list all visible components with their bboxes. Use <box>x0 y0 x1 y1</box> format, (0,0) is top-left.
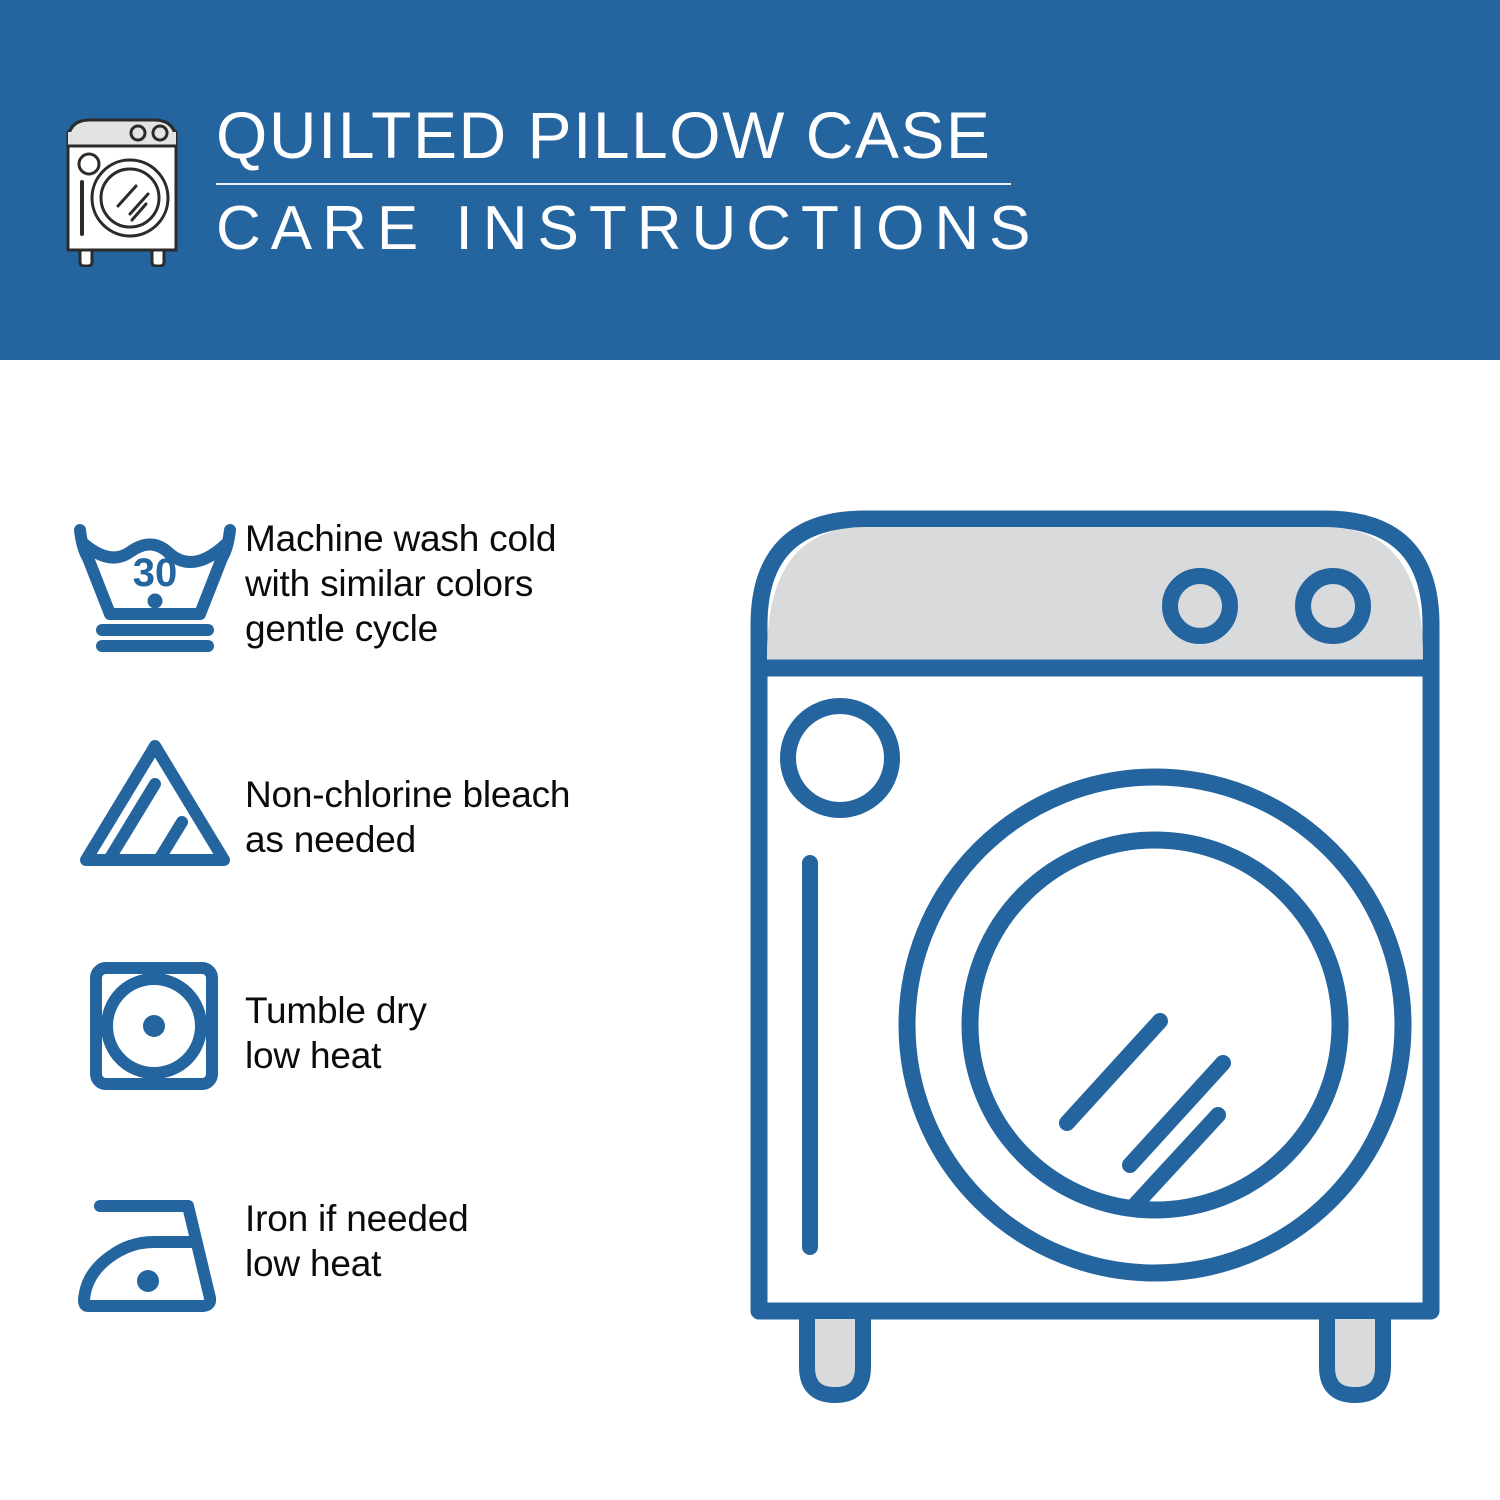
care-line: low heat <box>245 1241 710 1286</box>
care-instruction-list: 30 Machine wash cold with similar colors… <box>70 510 710 1390</box>
header-band: QUILTED PILLOW CASE CARE INSTRUCTIONS <box>0 0 1500 360</box>
care-line: gentle cycle <box>245 606 710 651</box>
leg-left <box>807 1311 863 1395</box>
care-row-tumble-dry: Tumble dry low heat <box>70 950 710 1170</box>
care-text-iron: Iron if needed low heat <box>245 1170 710 1286</box>
page-title: QUILTED PILLOW CASE <box>216 96 1016 174</box>
header-text-block: QUILTED PILLOW CASE CARE INSTRUCTIONS <box>216 96 1016 267</box>
leg-right <box>1327 1311 1383 1395</box>
care-line: low heat <box>245 1033 710 1078</box>
title-divider <box>216 183 1011 185</box>
care-text-machine-wash: Machine wash cold with similar colors ge… <box>245 510 710 651</box>
content-area: 30 Machine wash cold with similar colors… <box>0 360 1500 1500</box>
knob-right <box>1303 576 1363 636</box>
care-row-bleach: Non-chlorine bleach as needed <box>70 730 710 950</box>
care-line: Non-chlorine bleach <box>245 772 710 817</box>
care-row-iron: Iron if needed low heat <box>70 1170 710 1390</box>
page-subtitle: CARE INSTRUCTIONS <box>216 191 1016 267</box>
iron-low-heat-icon <box>70 1170 245 1326</box>
washing-machine-icon <box>62 102 182 267</box>
wash-temperature-value: 30 <box>133 551 178 595</box>
care-line: as needed <box>245 817 710 862</box>
care-line: Machine wash cold <box>245 516 710 561</box>
care-line: Tumble dry <box>245 988 710 1033</box>
care-line: with similar colors <box>245 561 710 606</box>
wash-tub-30-gentle-icon: 30 <box>70 510 245 654</box>
care-line: Iron if needed <box>245 1196 710 1241</box>
care-text-bleach: Non-chlorine bleach as needed <box>245 730 710 862</box>
knob-left <box>1170 576 1230 636</box>
non-chlorine-bleach-triangle-icon <box>70 730 245 872</box>
small-dial <box>788 706 892 810</box>
tumble-dry-low-heat-icon <box>70 950 245 1094</box>
front-load-washing-machine-illustration <box>745 505 1445 1415</box>
care-text-tumble-dry: Tumble dry low heat <box>245 950 710 1078</box>
care-row-machine-wash: 30 Machine wash cold with similar colors… <box>70 510 710 730</box>
